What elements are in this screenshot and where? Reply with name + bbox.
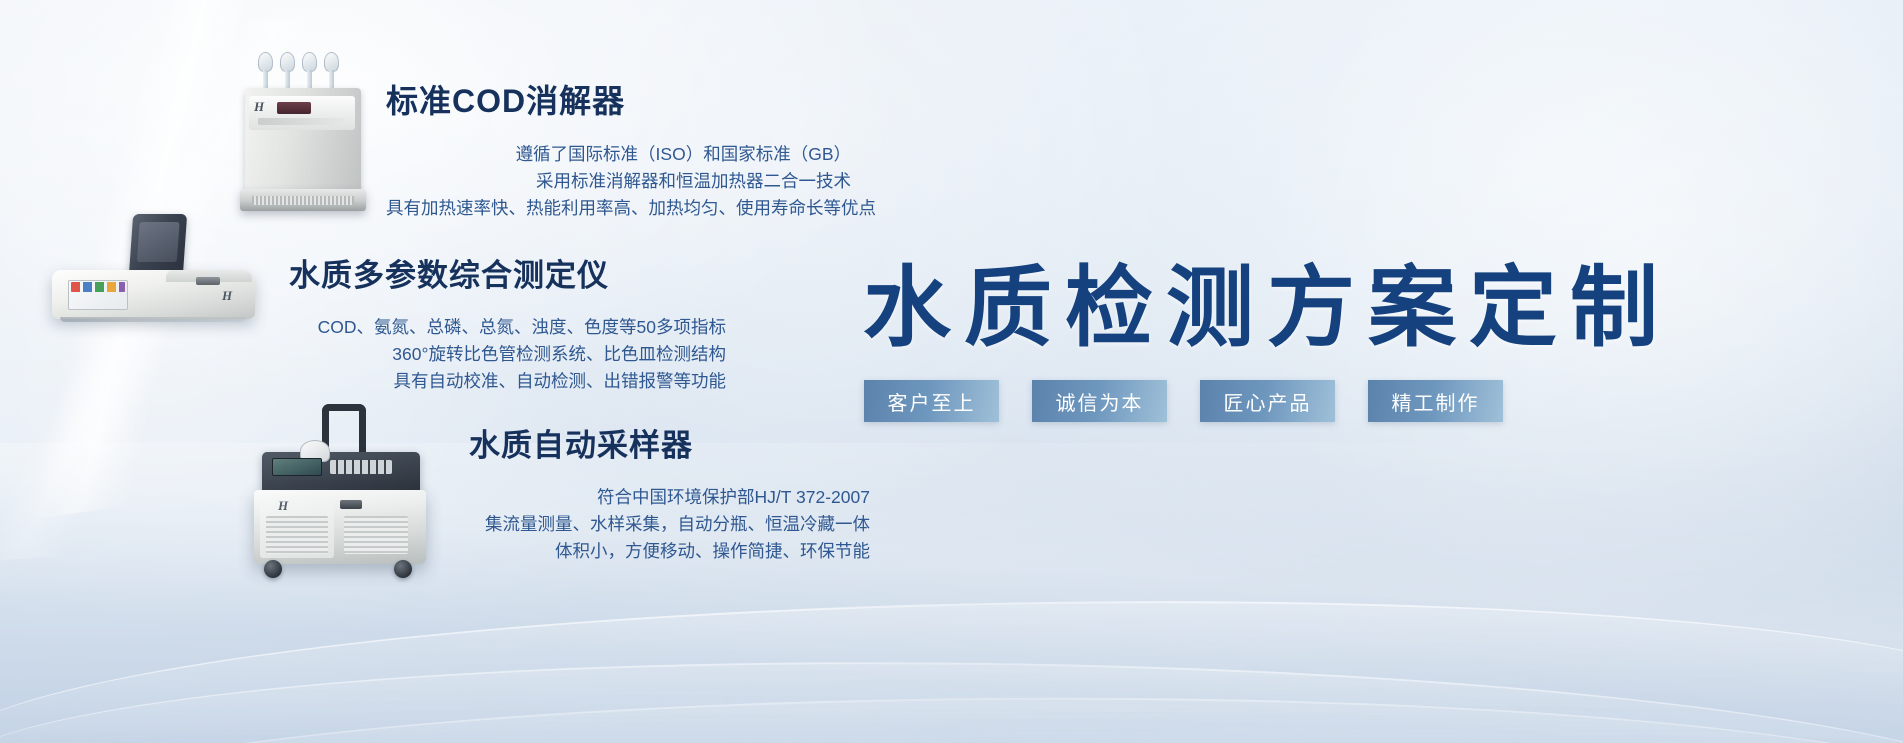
slogan-badge-fine-workmanship[interactable]: 精工制作: [1368, 380, 1503, 422]
auto-sampler-image: H: [244, 404, 434, 582]
cod-display-screen: [277, 102, 311, 114]
cod-keypad: [258, 118, 346, 125]
slogan-badge-craftsmanship[interactable]: 匠心产品: [1200, 380, 1335, 422]
description-line: 集流量测量、水样采集，自动分瓶、恒温冷藏一体: [469, 511, 870, 538]
brand-logo-icon: H: [222, 288, 232, 304]
description-line: 360°旋转比色管检测系统、比色皿检测结构: [289, 341, 726, 368]
cod-vent-grille: [252, 196, 354, 205]
condenser-flask-icon: [280, 52, 295, 72]
product-block-multi: 水质多参数综合测定仪 COD、氨氮、总磷、总氮、浊度、色度等50多项指标 360…: [289, 250, 726, 395]
sampler-display-screen: [272, 458, 322, 476]
sampler-keypad: [330, 460, 392, 474]
sampler-vent-grille-right: [344, 516, 408, 554]
slogan-badge-row: 客户至上 诚信为本 匠心产品 精工制作: [864, 380, 1503, 422]
product-title-multi: 水质多参数综合测定仪: [289, 250, 726, 295]
analyzer-base-shadow: [60, 317, 246, 322]
multi-parameter-analyzer-image: H: [46, 214, 261, 329]
promo-banner: H 标准COD消解器 遵循了国际标准（ISO）和国家标准（GB） 采用标准消解器…: [0, 0, 1903, 743]
description-line: 具有自动校准、自动检测、出错报警等功能: [289, 368, 726, 395]
brand-logo-icon: H: [254, 99, 270, 117]
product-title-cod: 标准COD消解器: [386, 76, 851, 122]
description-line: 采用标准消解器和恒温加热器二合一技术: [386, 168, 851, 195]
slogan-badge-integrity[interactable]: 诚信为本: [1032, 380, 1167, 422]
condenser-flask-icon: [258, 52, 273, 72]
condenser-flask-icon: [324, 52, 339, 72]
slogan-badge-customer-first[interactable]: 客户至上: [864, 380, 999, 422]
description-line: 遵循了国际标准（ISO）和国家标准（GB）: [386, 141, 851, 168]
product-description-multi: COD、氨氮、总磷、总氮、浊度、色度等50多项指标 360°旋转比色管检测系统、…: [289, 314, 726, 395]
description-line: 符合中国环境保护部HJ/T 372-2007: [469, 484, 870, 511]
product-description-sampler: 符合中国环境保护部HJ/T 372-2007 集流量测量、水样采集，自动分瓶、恒…: [469, 484, 870, 565]
description-line: 体积小，方便移动、操作简捷、环保节能: [469, 538, 870, 565]
product-block-cod: 标准COD消解器 遵循了国际标准（ISO）和国家标准（GB） 采用标准消解器和恒…: [386, 76, 851, 222]
condenser-flask-icon: [302, 52, 317, 72]
analyzer-sample-port: [196, 277, 220, 285]
product-title-sampler: 水质自动采样器: [469, 420, 870, 465]
sampler-caster-wheel: [394, 560, 412, 578]
banner-headline: 水质检测方案定制: [863, 237, 1671, 364]
description-line: COD、氨氮、总磷、总氮、浊度、色度等50多项指标: [289, 314, 726, 341]
sampler-caster-wheel: [264, 560, 282, 578]
product-description-cod: 遵循了国际标准（ISO）和国家标准（GB） 采用标准消解器和恒温加热器二合一技术…: [386, 141, 851, 222]
analyzer-screen-icons: [71, 282, 125, 292]
sampler-door-handle: [340, 500, 362, 509]
brand-logo-icon: H: [278, 498, 288, 514]
cod-digester-image: H: [236, 46, 371, 211]
analyzer-lid: [129, 214, 187, 276]
sampler-vent-grille-left: [266, 516, 328, 554]
description-line: 具有加热速率快、热能利用率高、加热均匀、使用寿命长等优点: [386, 195, 851, 222]
product-block-sampler: 水质自动采样器 符合中国环境保护部HJ/T 372-2007 集流量测量、水样采…: [469, 420, 870, 565]
